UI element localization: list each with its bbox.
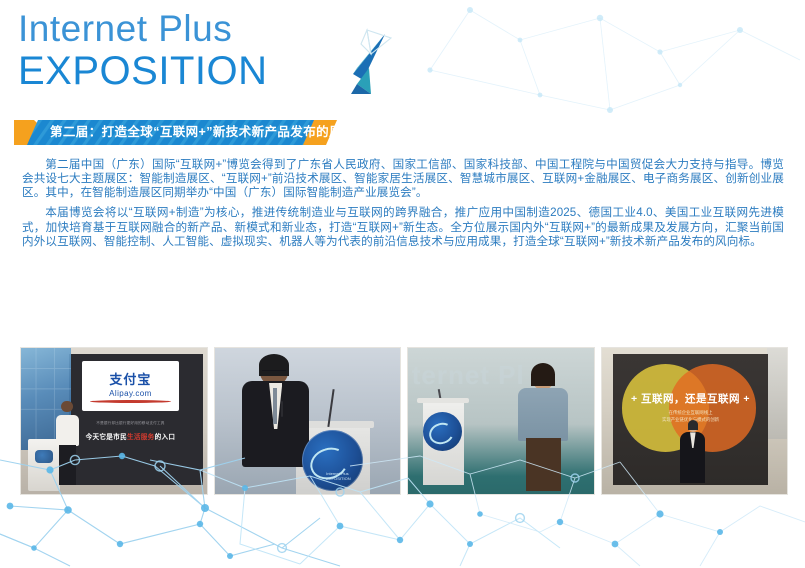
alipay-slide-subtitle-small: 不是银行却比银行更好用的移动支付工具 xyxy=(84,421,177,426)
brand-logo: Internet Plus EXPOSITION xyxy=(18,10,418,105)
alipay-slide-subtitle-main: 今天它是市民生活服务的入口 xyxy=(80,431,180,441)
photo-alipay-keynote[interactable]: 支付宝 Alipay.com 不是银行却比银行更好用的移动支付工具 今天它是市民… xyxy=(20,347,208,495)
speaker-figure xyxy=(54,401,80,486)
alipay-slide-logo: 支付宝 Alipay.com xyxy=(82,361,178,411)
alipay-brand-cn: 支付宝 xyxy=(109,373,151,386)
section-banner-title: 第二届：打造全球“互联网+”新技术新产品发布的风向标 xyxy=(50,120,368,145)
paragraph-2: 本届博览会将以“互联网+制造”为核心，推进传统制造业与互联网的跨界融合，推广应用… xyxy=(22,206,784,248)
venn-subtext-line1: 在传统企业互联网线上 xyxy=(634,410,746,417)
photo-standing-speaker[interactable]: ternet Pl xyxy=(407,347,595,495)
alipay-brand-en: Alipay.com xyxy=(109,389,152,398)
section-banner: 第二届：打造全球“互联网+”新技术新产品发布的风向标 xyxy=(14,120,337,145)
poster-page: Internet Plus EXPOSITION 第二届：打造全球“互联网+”新… xyxy=(0,0,805,568)
photo-venn-slide[interactable]: + 互联网，还是互联网 + 在传统企业互联网线上 实现产业链优化与模式的创新 xyxy=(601,347,789,495)
body-copy: 第二届中国（广东）国际“互联网+”博览会得到了广东省人民政府、国家工信部、国家科… xyxy=(22,158,784,249)
alipay-sub-b: 生活服务 xyxy=(127,434,155,441)
photo-speaker-lectern[interactable]: Internet Plus EXPOSITION xyxy=(214,347,402,495)
expo-logo-text: Internet Plus EXPOSITION xyxy=(326,472,360,481)
speaker-figure xyxy=(248,357,304,494)
paper-plane-logo-icon xyxy=(313,28,393,98)
photo-gallery: 支付宝 Alipay.com 不是银行却比银行更好用的移动支付工具 今天它是市民… xyxy=(20,347,788,495)
expo-round-logo xyxy=(423,412,462,451)
expo-round-logo: Internet Plus EXPOSITION xyxy=(302,430,363,491)
speaker-figure xyxy=(519,366,567,492)
paragraph-1: 第二届中国（广东）国际“互联网+”博览会得到了广东省人民政府、国家工信部、国家科… xyxy=(22,158,784,200)
alipay-sub-c: 的入口 xyxy=(155,434,176,441)
venn-headline: + 互联网，还是互联网 + xyxy=(625,391,756,406)
speaker-figure xyxy=(681,422,704,482)
alipay-sub-a: 今天它是市民 xyxy=(86,434,127,441)
